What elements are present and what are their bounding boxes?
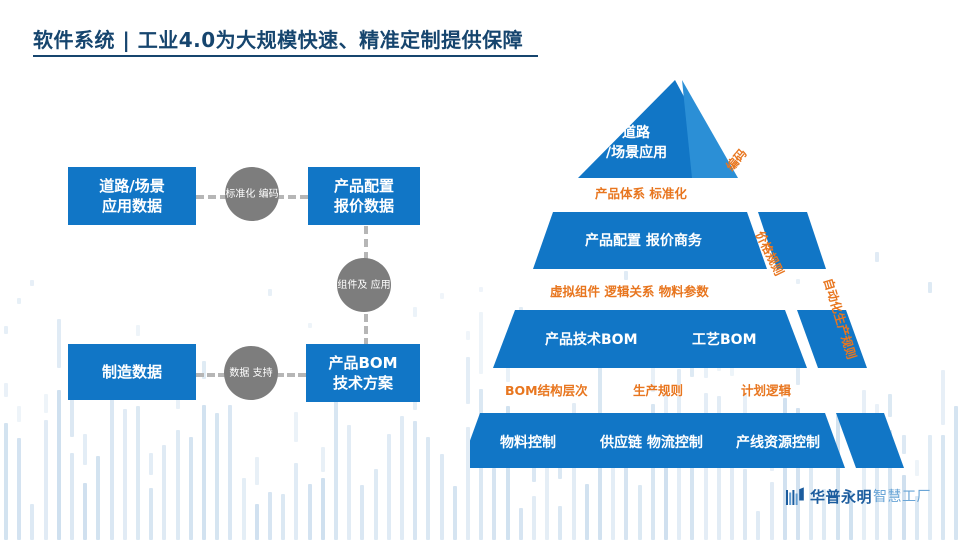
decorative-bar xyxy=(638,485,642,540)
pyramid-tier3-label-2: 工艺BOM xyxy=(692,329,757,349)
huapu-logo-icon xyxy=(786,487,805,508)
slide-canvas: 软件系统 | 工业4.0为大规模快速、精准定制提供保障 道路/场景 应用数据 产… xyxy=(0,0,960,540)
pyramid-shapes xyxy=(470,60,960,480)
logo-company-name: 华普永明 xyxy=(810,488,872,507)
pyramid-tier2-label: 产品配置 报价商务 xyxy=(585,230,702,250)
decorative-bar xyxy=(770,482,774,540)
pyramid-tier1-label-line2: /场景应用 xyxy=(606,142,667,162)
pyramid-tier3-sub-1: BOM结构层次 xyxy=(505,380,588,399)
pyramid-tier3-sub-3: 计划逻辑 xyxy=(741,380,791,399)
box-product-bom-tech-plan-line1: 产品BOM xyxy=(328,353,397,373)
connector-component-to-bom xyxy=(364,314,368,346)
circle-standard-coding-line1: 标准化 xyxy=(225,189,255,200)
circle-data-support-line1: 数据 xyxy=(229,368,249,379)
pyramid-tier3-front[interactable] xyxy=(493,310,807,368)
page-title: 软件系统 | 工业4.0为大规模快速、精准定制提供保障 xyxy=(0,24,960,64)
box-road-scene-data[interactable]: 道路/场景 应用数据 xyxy=(68,167,196,225)
box-product-config-quote-data[interactable]: 产品配置 报价数据 xyxy=(308,167,420,225)
box-product-bom-tech-plan-line2: 技术方案 xyxy=(328,373,397,393)
data-flow-diagram: 道路/场景 应用数据 产品配置 报价数据 制造数据 产品BOM 技术方案 标准 xyxy=(0,0,470,540)
connector-support-to-bom xyxy=(276,373,306,377)
title-underline xyxy=(33,55,538,57)
box-manufacturing-data[interactable]: 制造数据 xyxy=(68,344,196,400)
circle-component-application-line1: 组件及 xyxy=(337,280,367,291)
circle-data-support-line2: 支持 xyxy=(253,368,273,379)
circle-component-application-line2: 应用 xyxy=(371,280,391,291)
circle-component-application[interactable]: 组件及 应用 xyxy=(337,258,391,312)
pyramid-tier4-side[interactable] xyxy=(836,413,904,468)
page-title-text: 软件系统 | 工业4.0为大规模快速、精准定制提供保障 xyxy=(33,24,523,56)
circle-standard-coding[interactable]: 标准化 编码 xyxy=(225,167,279,221)
pyramid-tier1-sub: 产品体系 标准化 xyxy=(595,183,687,202)
decorative-bar xyxy=(756,511,760,540)
pyramid-tier4-label-2: 供应链 物流控制 xyxy=(600,432,703,452)
pyramid-tier3-sub-2: 生产规则 xyxy=(633,380,683,399)
decorative-bar xyxy=(585,484,589,540)
box-manufacturing-data-line1: 制造数据 xyxy=(102,362,162,382)
connector-road-to-standard xyxy=(196,195,228,199)
box-road-scene-data-line2: 应用数据 xyxy=(99,196,164,216)
logo-tagline: 智慧工厂 xyxy=(873,488,931,507)
pyramid-tier3-label-1: 产品技术BOM xyxy=(545,329,638,349)
box-road-scene-data-line1: 道路/场景 xyxy=(99,176,164,196)
box-product-bom-tech-plan[interactable]: 产品BOM 技术方案 xyxy=(306,344,420,402)
layered-pyramid-diagram: 道路 /场景应用 产品体系 标准化 产品配置 报价商务 虚拟组件 逻辑关系 物料… xyxy=(470,60,960,480)
pyramid-tier1-label-line1: 道路 xyxy=(622,122,650,142)
box-product-config-quote-data-line1: 产品配置 xyxy=(334,176,394,196)
decorative-bar xyxy=(519,508,523,540)
connector-manufacturing-to-support xyxy=(196,373,226,377)
pyramid-tier4-label-3: 产线资源控制 xyxy=(736,432,820,452)
connector-config-to-component xyxy=(364,226,368,260)
box-product-config-quote-data-line2: 报价数据 xyxy=(334,196,394,216)
pyramid-tier2-sub: 虚拟组件 逻辑关系 物料参数 xyxy=(550,281,709,300)
circle-data-support[interactable]: 数据 支持 xyxy=(224,346,278,400)
connector-standard-to-config xyxy=(276,195,308,199)
pyramid-tier4-label-1: 物料控制 xyxy=(500,432,556,452)
company-logo: 华普永明 智慧工厂 xyxy=(786,487,931,508)
decorative-bar xyxy=(558,506,562,540)
decorative-bar xyxy=(532,496,536,540)
circle-standard-coding-line2: 编码 xyxy=(259,189,279,200)
